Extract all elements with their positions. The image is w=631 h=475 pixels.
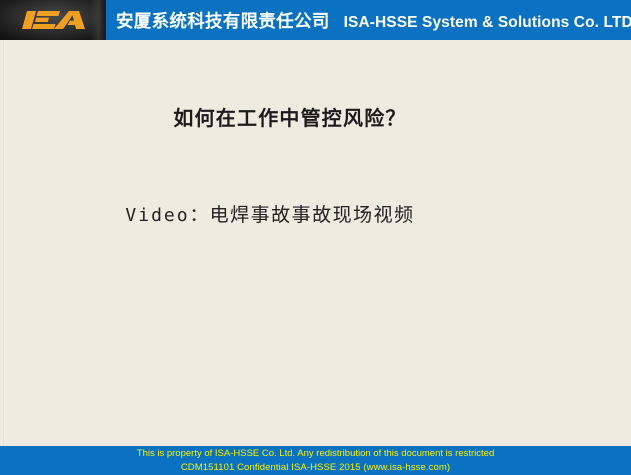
logo-block: [0, 0, 106, 40]
header-titles: 安厦系统科技有限责任公司 ISA-HSSE System & Solutions…: [106, 8, 631, 33]
video-label: Video：: [125, 205, 209, 226]
left-margin-rule: [3, 40, 4, 446]
slide-header: 安厦系统科技有限责任公司 ISA-HSSE System & Solutions…: [0, 0, 631, 40]
slide-footer: This is property of ISA-HSSE Co. Ltd. An…: [0, 446, 631, 475]
isa-logo-icon: [19, 8, 89, 32]
presentation-slide: 安厦系统科技有限责任公司 ISA-HSSE System & Solutions…: [0, 0, 631, 475]
footer-copyright-line: This is property of ISA-HSSE Co. Ltd. An…: [0, 447, 631, 461]
company-name-en: ISA-HSSE System & Solutions Co. LTD: [330, 14, 631, 32]
slide-body: 如何在工作中管控风险？ Video：电焊事故事故现场视频: [0, 40, 631, 446]
slide-title: 如何在工作中管控风险？: [0, 102, 580, 131]
video-reference-line: Video：电焊事故事故现场视频: [0, 200, 540, 227]
video-name: 电焊事故事故现场视频: [210, 204, 415, 226]
company-name-cn: 安厦系统科技有限责任公司: [116, 8, 330, 33]
footer-document-line: CDM151101 Confidential ISA-HSSE 2015 (ww…: [0, 461, 631, 475]
